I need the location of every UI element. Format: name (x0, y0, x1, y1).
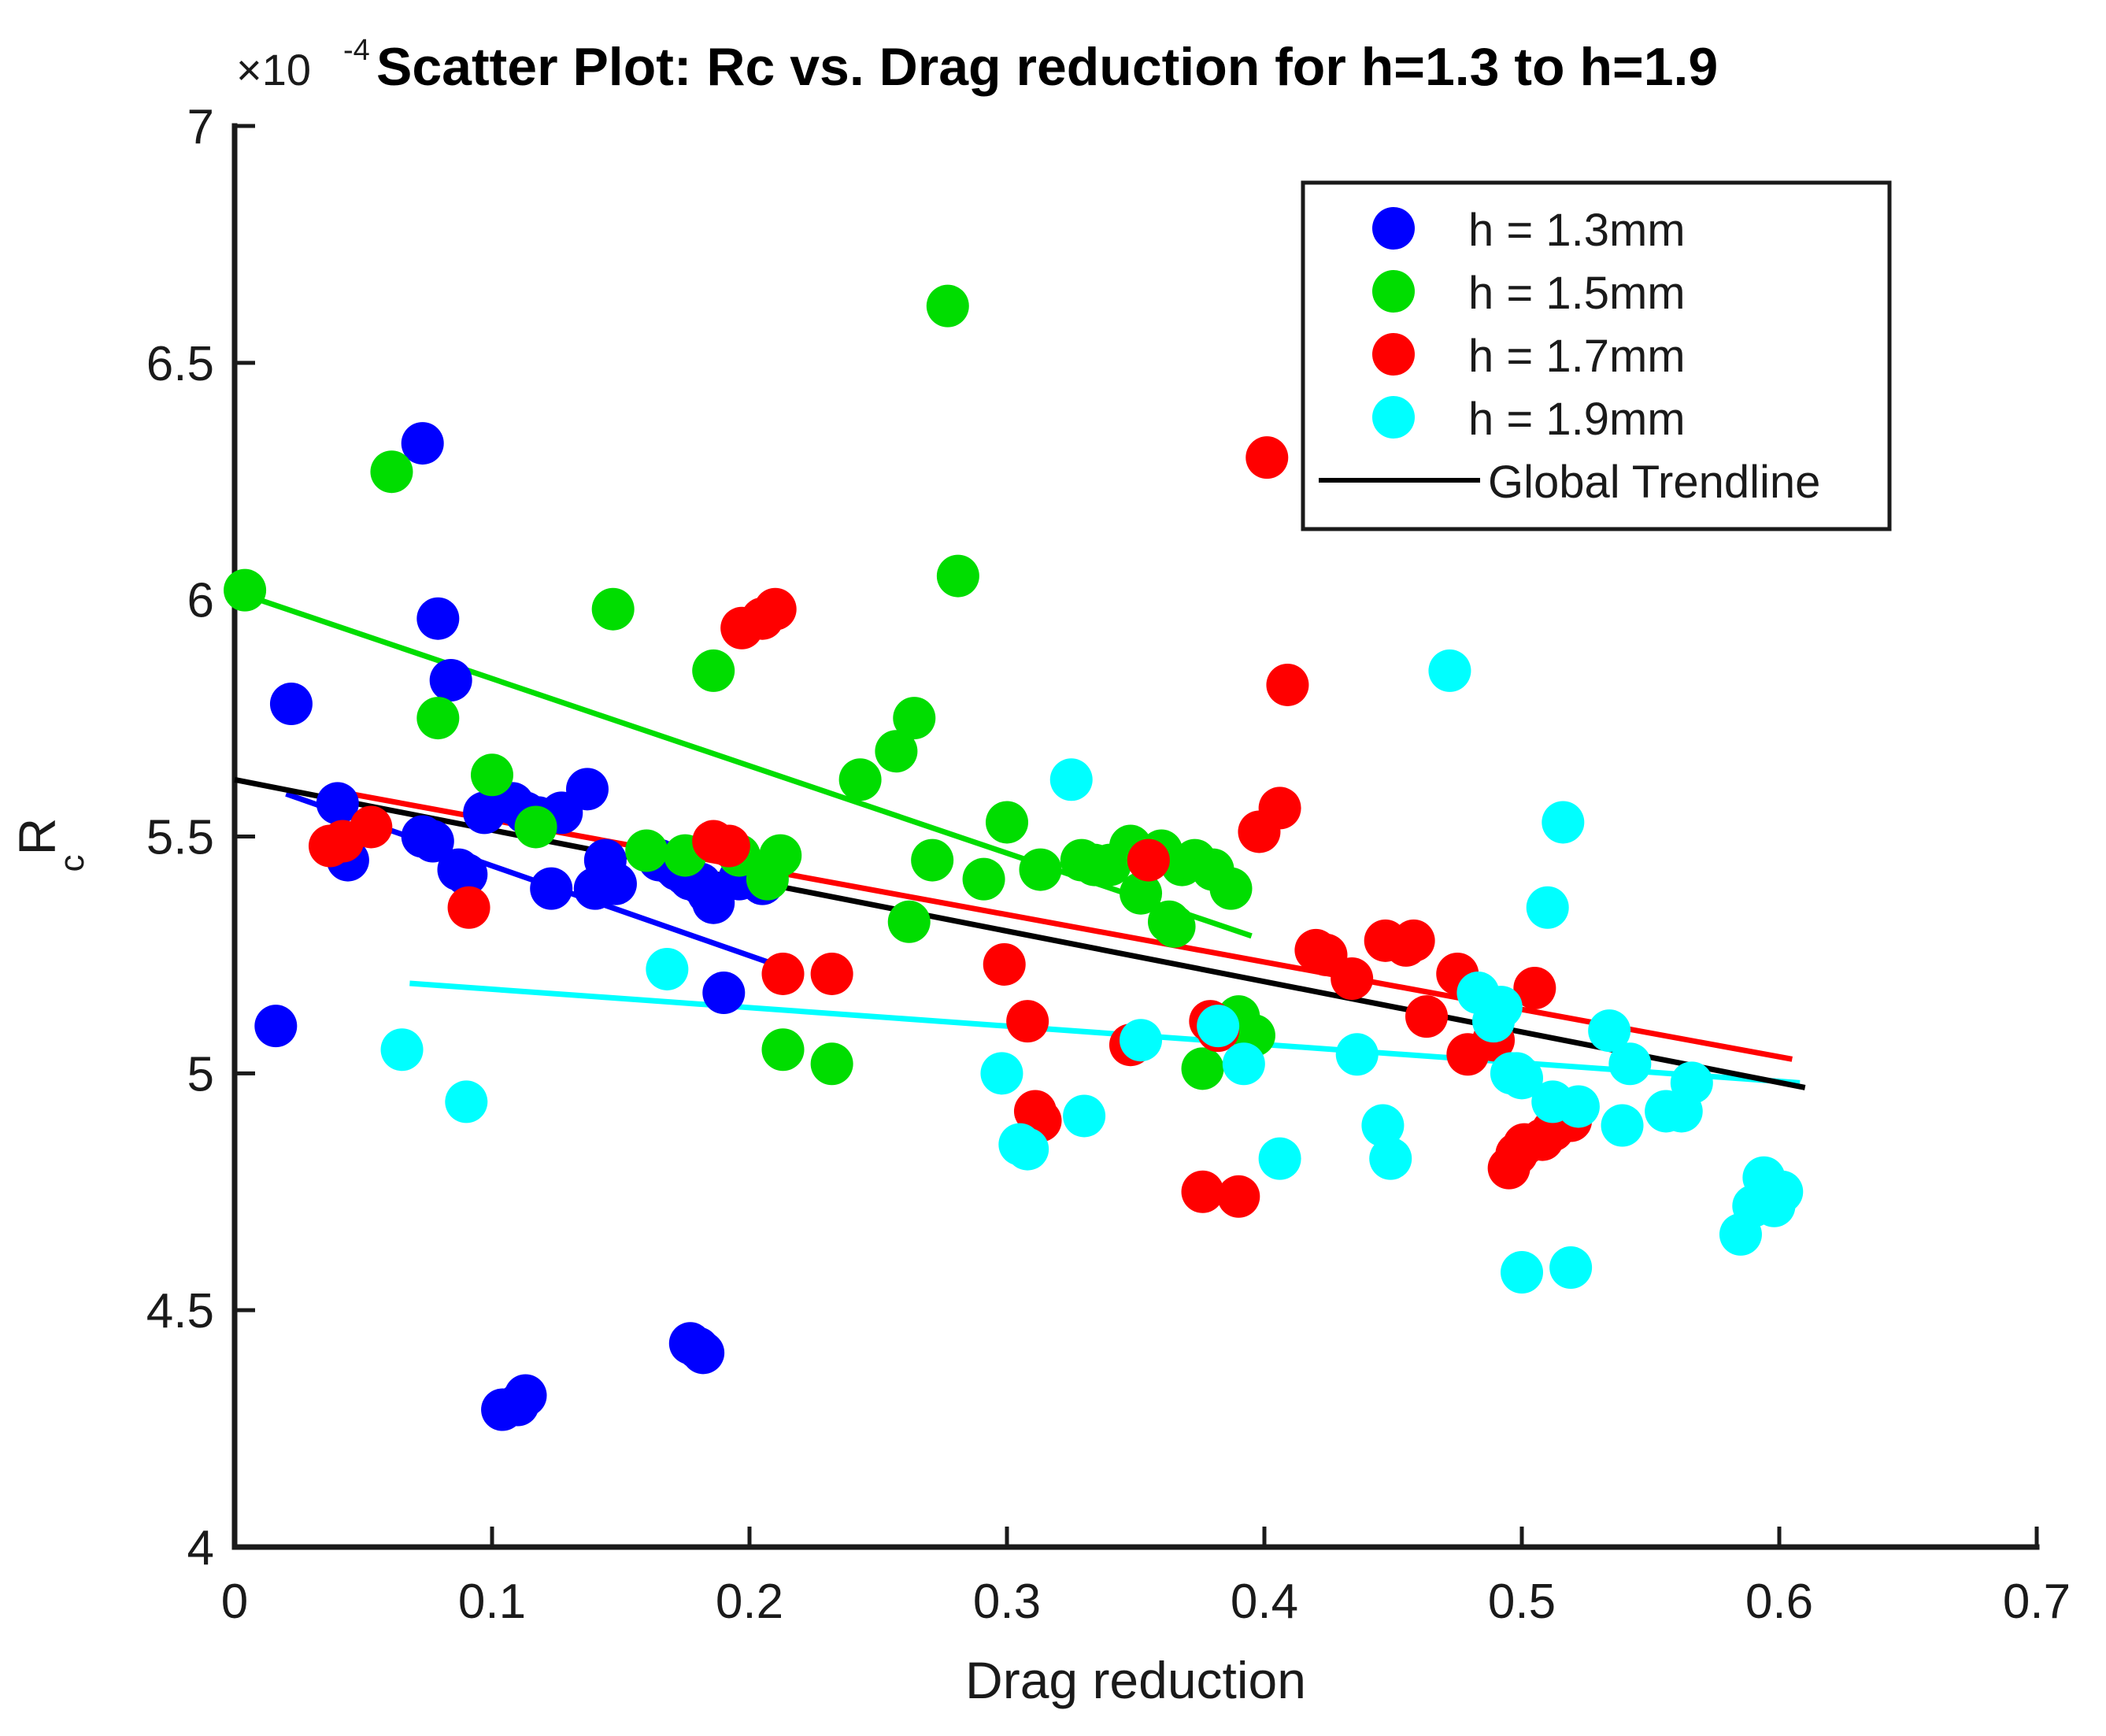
y-axis-label-subscript: c (53, 855, 91, 872)
data-point[interactable] (811, 953, 853, 995)
legend-marker-circle[interactable] (1372, 270, 1415, 313)
data-point[interactable] (515, 805, 557, 848)
data-point[interactable] (1259, 787, 1301, 829)
data-point[interactable] (911, 839, 953, 882)
data-point[interactable] (1063, 1094, 1105, 1137)
data-point[interactable] (1120, 1019, 1162, 1061)
data-point[interactable] (592, 588, 635, 631)
series-points (224, 285, 1275, 1090)
data-point[interactable] (1266, 664, 1308, 706)
data-point[interactable] (1608, 1042, 1651, 1085)
data-point[interactable] (1557, 1085, 1600, 1127)
chart-title: Scatter Plot: Rc vs. Drag reduction for … (376, 37, 1718, 97)
data-point[interactable] (1006, 1128, 1049, 1171)
legend-label[interactable]: Global Trendline (1488, 457, 1820, 508)
series-points (254, 422, 783, 1431)
data-point[interactable] (1259, 1138, 1301, 1180)
data-point[interactable] (381, 1028, 424, 1071)
data-point[interactable] (1549, 1246, 1592, 1289)
legend-marker-circle[interactable] (1372, 396, 1415, 439)
data-point[interactable] (594, 863, 637, 905)
data-point[interactable] (702, 972, 745, 1014)
data-point[interactable] (448, 887, 490, 929)
data-point[interactable] (1405, 995, 1448, 1038)
data-point[interactable] (762, 953, 805, 995)
data-point[interactable] (682, 1331, 724, 1374)
data-point[interactable] (1182, 1047, 1224, 1090)
data-point[interactable] (1480, 986, 1523, 1028)
data-point[interactable] (1369, 1138, 1412, 1180)
data-point[interactable] (224, 569, 266, 612)
y-axis-label: Rc (8, 818, 91, 872)
data-point[interactable] (927, 285, 969, 328)
data-point[interactable] (370, 450, 413, 493)
y-axis-label-text: R (8, 818, 66, 856)
data-point[interactable] (566, 768, 609, 810)
data-point[interactable] (1153, 905, 1196, 948)
data-point[interactable] (625, 830, 668, 872)
data-point[interactable] (1245, 436, 1288, 479)
data-point[interactable] (1336, 1033, 1379, 1075)
legend-label[interactable]: h = 1.3mm (1468, 205, 1686, 256)
data-point[interactable] (445, 1080, 487, 1123)
y-tick-label: 6.5 (146, 337, 214, 391)
data-point[interactable] (1197, 1005, 1239, 1047)
data-point[interactable] (1209, 868, 1252, 910)
data-point[interactable] (416, 697, 459, 739)
data-point[interactable] (1217, 1175, 1260, 1218)
data-point[interactable] (1760, 1171, 1803, 1213)
data-point[interactable] (1428, 650, 1471, 692)
y-tick-label: 6 (187, 574, 214, 628)
data-point[interactable] (1393, 920, 1435, 962)
y-axis-exponent: ×10-4 (236, 34, 370, 94)
data-point[interactable] (811, 1042, 853, 1085)
x-axis-label: Drag reduction (965, 1651, 1306, 1709)
y-tick-label: 7 (187, 100, 214, 154)
data-point[interactable] (1020, 849, 1062, 891)
legend-marker-circle[interactable] (1372, 333, 1415, 376)
data-point[interactable] (759, 835, 801, 877)
y-tick-label: 4.5 (146, 1284, 214, 1338)
data-point[interactable] (646, 948, 688, 990)
y-tick-label: 4 (187, 1521, 214, 1575)
data-point[interactable] (1501, 1251, 1543, 1294)
y-tick-label: 5.5 (146, 811, 214, 865)
data-point[interactable] (839, 758, 882, 801)
data-point[interactable] (530, 868, 572, 910)
data-point[interactable] (754, 588, 797, 631)
series-points (309, 436, 1592, 1218)
data-point[interactable] (708, 825, 750, 868)
data-point[interactable] (762, 1028, 805, 1071)
x-tick-label: 0.5 (1488, 1575, 1556, 1629)
data-point[interactable] (1542, 801, 1584, 843)
legend-label[interactable]: h = 1.7mm (1468, 331, 1686, 382)
data-point[interactable] (1331, 957, 1373, 1000)
x-tick-label: 0 (221, 1575, 248, 1629)
x-tick-label: 0.3 (973, 1575, 1041, 1629)
data-point[interactable] (1182, 1171, 1224, 1213)
data-point[interactable] (888, 901, 931, 943)
x-tick-label: 0.2 (716, 1575, 783, 1629)
legend-marker-circle[interactable] (1372, 207, 1415, 250)
y-tick-label: 5 (187, 1047, 214, 1101)
data-point[interactable] (416, 598, 459, 640)
data-point[interactable] (1050, 758, 1093, 801)
x-tick-label: 0.6 (1745, 1575, 1813, 1629)
data-point[interactable] (986, 801, 1028, 843)
legend-label[interactable]: h = 1.5mm (1468, 268, 1686, 319)
figure-container: 00.10.20.30.40.50.60.744.555.566.57×10-4… (0, 0, 2106, 1736)
data-point[interactable] (980, 1052, 1023, 1094)
data-point[interactable] (254, 1005, 297, 1047)
y-exponent-base: ×10 (236, 45, 311, 94)
x-tick-label: 0.7 (2003, 1575, 2071, 1629)
data-point[interactable] (1127, 839, 1170, 882)
data-point[interactable] (471, 753, 513, 796)
data-point[interactable] (692, 650, 735, 692)
data-point[interactable] (430, 659, 472, 701)
data-point[interactable] (505, 1374, 547, 1416)
data-point[interactable] (1671, 1061, 1713, 1104)
data-point[interactable] (1006, 1000, 1049, 1042)
data-point[interactable] (893, 697, 935, 739)
data-point[interactable] (963, 858, 1005, 901)
scatter-plot-svg: 00.10.20.30.40.50.60.744.555.566.57×10-4… (0, 0, 2106, 1736)
data-point[interactable] (1601, 1105, 1644, 1147)
data-point[interactable] (270, 683, 313, 725)
x-tick-label: 0.4 (1231, 1575, 1298, 1629)
data-point[interactable] (937, 555, 979, 598)
data-point[interactable] (983, 943, 1026, 986)
data-point[interactable] (350, 805, 392, 848)
data-point[interactable] (1223, 1042, 1265, 1085)
legend-label[interactable]: h = 1.9mm (1468, 394, 1686, 445)
series-points (381, 650, 1804, 1294)
y-exponent-power: -4 (343, 34, 370, 67)
legend: h = 1.3mmh = 1.5mmh = 1.7mmh = 1.9mmGlob… (1303, 183, 1889, 529)
data-point[interactable] (1527, 887, 1569, 929)
x-tick-label: 0.1 (458, 1575, 526, 1629)
